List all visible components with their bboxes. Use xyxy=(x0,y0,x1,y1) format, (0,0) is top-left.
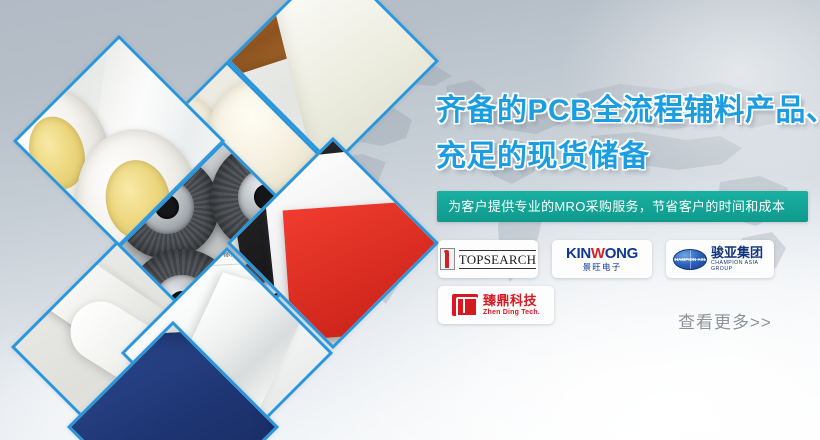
promo-banner: 标签 JIE 齐备的PCB全流程辅料产品、 充足的现货储备 为客户提供专业的MR… xyxy=(0,0,820,440)
partner-logo-champion-asia[interactable]: CHAMPION ASIA 骏亚集团 CHAMPION ASIA GROUP xyxy=(666,240,774,278)
kinwong-label: KINWONG xyxy=(566,246,638,262)
view-more-link[interactable]: 查看更多>> xyxy=(678,308,772,333)
topsearch-mark-icon xyxy=(440,248,455,270)
kinwong-label-cn: 景旺电子 xyxy=(583,262,622,273)
globe-icon: CHAMPION ASIA xyxy=(673,249,707,270)
headline-line-1: 齐备的PCB全流程辅料产品、 xyxy=(436,94,820,127)
globe-icon-label: CHAMPION ASIA xyxy=(673,257,707,262)
partner-logo-topsearch[interactable]: TOPSEARCH xyxy=(438,240,538,278)
zhending-mark-icon xyxy=(452,294,478,316)
champion-label-cn: 骏亚集团 xyxy=(711,246,767,259)
zhending-label-cn: 臻鼎科技 xyxy=(483,294,540,307)
product-collage: 标签 JIE xyxy=(0,0,440,440)
kinwong-w-glyph: W xyxy=(591,245,605,262)
champion-label-en: CHAMPION ASIA GROUP xyxy=(711,261,767,271)
subtitle-text: 为客户提供专业的MRO采购服务，节省客户的时间和成本 xyxy=(437,191,808,222)
zhending-label-en: Zhen Ding Tech. xyxy=(483,309,540,316)
banner-content: 齐备的PCB全流程辅料产品、 充足的现货储备 为客户提供专业的MRO采购服务，节… xyxy=(430,0,820,440)
headline-line-2: 充足的现货储备 xyxy=(436,134,820,180)
headline: 齐备的PCB全流程辅料产品、 充足的现货储备 xyxy=(436,88,820,180)
partner-logo-kinwong[interactable]: KINWONG 景旺电子 xyxy=(552,240,652,278)
topsearch-label: TOPSEARCH xyxy=(459,250,536,269)
partner-logo-zhen-ding[interactable]: 臻鼎科技 Zhen Ding Tech. xyxy=(438,286,554,324)
subtitle-bar: 为客户提供专业的MRO采购服务，节省客户的时间和成本 xyxy=(437,191,808,222)
partner-logo-row-1: TOPSEARCH KINWONG 景旺电子 CHAMPION ASIA 骏亚集… xyxy=(438,240,818,278)
